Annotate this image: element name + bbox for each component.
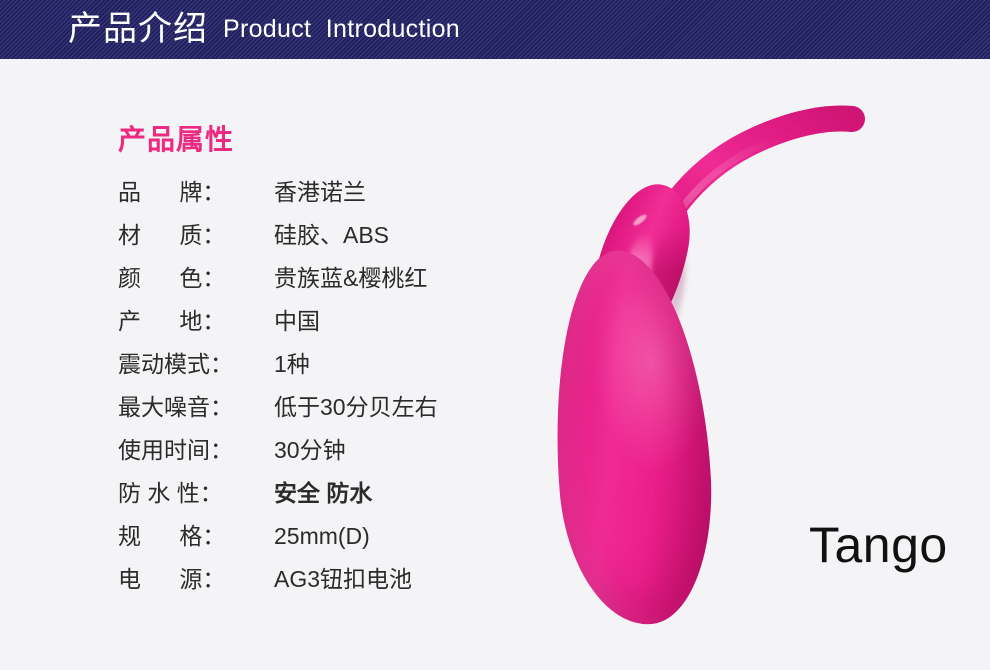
spec-label-vibration-modes: 震动模式： (118, 353, 274, 376)
header-title-english: Product Introduction (223, 17, 460, 42)
spec-label-size: 规 格： (118, 525, 274, 548)
spec-value-brand: 香港诺兰 (274, 181, 366, 204)
header-title-group: 产品介绍 Product Introduction (68, 0, 460, 59)
header-banner: 产品介绍 Product Introduction (0, 0, 990, 59)
spec-value-size: 25mm(D) (274, 525, 370, 548)
spec-row-max-noise: 最大噪音： 低于30分贝左右 (118, 396, 548, 439)
spec-value-max-noise: 低于30分贝左右 (274, 396, 438, 419)
spec-value-color: 贵族蓝&樱桃红 (274, 267, 427, 290)
product-attributes-heading: 产品属性 (118, 126, 548, 154)
spec-value-usage-time: 30分钟 (274, 439, 346, 462)
spec-label-color: 颜 色： (118, 267, 274, 290)
spec-value-waterproof: 安全 防水 (274, 482, 372, 505)
spec-label-brand: 品 牌： (118, 181, 274, 204)
brand-name: Tango (809, 520, 948, 570)
spec-label-max-noise: 最大噪音： (118, 396, 274, 419)
spec-value-vibration-modes: 1种 (274, 353, 310, 376)
spec-row-brand: 品 牌： 香港诺兰 (118, 181, 548, 224)
spec-label-power: 电 源： (118, 568, 274, 591)
spec-label-waterproof: 防 水 性： (118, 482, 274, 505)
spec-row-material: 材 质： 硅胶、ABS (118, 224, 548, 267)
spec-value-power: AG3钮扣电池 (274, 568, 412, 591)
spec-row-size: 规 格： 25mm(D) (118, 525, 548, 568)
spec-value-material: 硅胶、ABS (274, 224, 389, 247)
spec-label-usage-time: 使用时间： (118, 439, 274, 462)
product-attributes-panel: 产品属性 品 牌： 香港诺兰 材 质： 硅胶、ABS 颜 色： 贵族蓝&樱桃红 … (118, 126, 548, 611)
product-body (543, 245, 721, 630)
spec-label-material: 材 质： (118, 224, 274, 247)
spec-row-usage-time: 使用时间： 30分钟 (118, 439, 548, 482)
spec-row-origin: 产 地： 中国 (118, 310, 548, 353)
spec-label-origin: 产 地： (118, 310, 274, 333)
spec-row-waterproof: 防 水 性： 安全 防水 (118, 482, 548, 525)
spec-row-power: 电 源： AG3钮扣电池 (118, 568, 548, 611)
header-title-chinese: 产品介绍 (68, 12, 208, 46)
spec-row-vibration-modes: 震动模式： 1种 (118, 353, 548, 396)
spec-row-color: 颜 色： 贵族蓝&樱桃红 (118, 267, 548, 310)
spec-value-origin: 中国 (274, 310, 320, 333)
